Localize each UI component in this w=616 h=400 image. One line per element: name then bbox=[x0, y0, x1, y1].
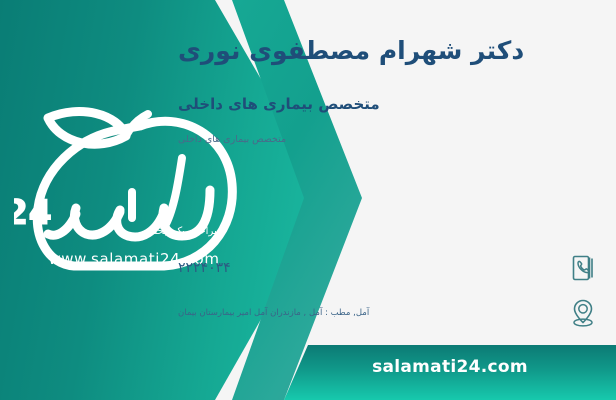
svg-text:24: 24 bbox=[14, 193, 52, 233]
doctor-name: دکتر شهرام مصطفوی نوری bbox=[178, 36, 598, 65]
address-text: آمل, مطب : آمل , مازندران آمل امیر بیمار… bbox=[178, 307, 560, 319]
phonebook-icon bbox=[568, 251, 598, 285]
contact-address-row[interactable]: آمل, مطب : آمل , مازندران آمل امیر بیمار… bbox=[178, 296, 598, 330]
contact-phone-row[interactable]: ۲۲۲۴۰۳۴ bbox=[178, 251, 598, 285]
doctor-specialty-secondary: متخصص بیماری های داخلی bbox=[178, 134, 598, 145]
phone-number: ۲۲۲۴۰۳۴ bbox=[178, 260, 560, 276]
logo-tagline: براحتی یک لبخند bbox=[118, 226, 248, 237]
map-pin-icon bbox=[568, 296, 598, 330]
doctor-specialty: متخصص بیماری های داخلی bbox=[178, 95, 598, 113]
doctor-profile-card: 24 براحتی یک لبخند www.salamati24.com دک… bbox=[0, 0, 616, 400]
footer-website[interactable]: salamati24.com bbox=[284, 357, 616, 377]
